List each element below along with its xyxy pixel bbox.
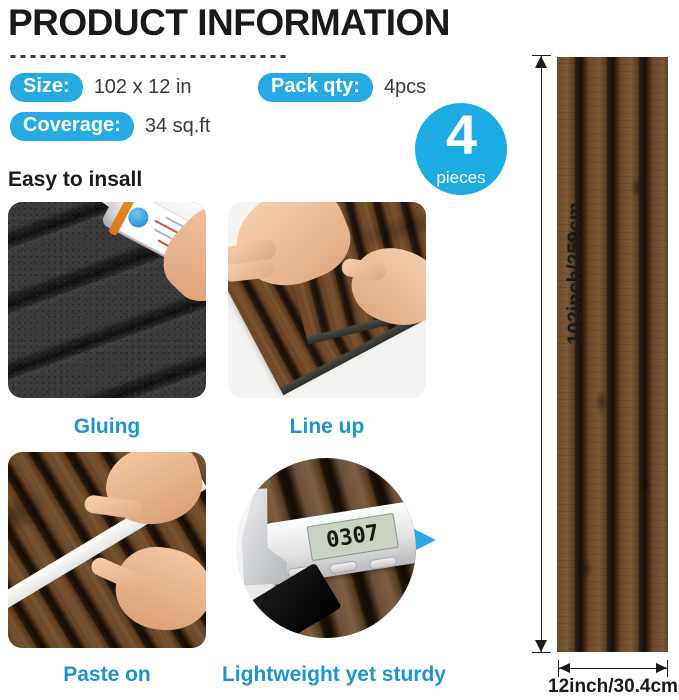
measurement-circle-photo: 0307 xyxy=(236,458,416,638)
spec-row-coverage: Coverage: 34 sq.ft xyxy=(10,112,210,141)
spec-label-coverage: Coverage: xyxy=(10,112,134,141)
dimension-cap-bottom xyxy=(532,652,551,653)
step-photo-measurement: 0307 xyxy=(236,458,432,654)
install-section-heading: Easy to insall xyxy=(8,168,142,192)
step-caption-measurement: Lightweight yet sturdy xyxy=(214,663,454,687)
pieces-badge-number: 4 xyxy=(415,107,507,163)
spec-label-size: Size: xyxy=(10,73,83,102)
dotted-divider xyxy=(8,55,286,58)
step-photo-gluing xyxy=(8,202,206,398)
spec-label-pack-qty: Pack qty: xyxy=(258,73,373,102)
step-caption-paste-on: Paste on xyxy=(8,663,206,687)
spec-value-pack-qty: 4pcs xyxy=(384,76,426,99)
dimension-line xyxy=(541,55,542,653)
spec-value-size: 102 x 12 in xyxy=(94,76,192,99)
spec-row-size: Size: 102 x 12 in xyxy=(10,73,192,102)
width-dimension-line xyxy=(558,668,668,669)
dimension-line xyxy=(558,668,668,669)
height-dimension-label: 102inch/259cm xyxy=(565,202,588,344)
infographic-root: PRODUCT INFORMATION Size: 102 x 12 in Co… xyxy=(0,0,679,700)
dimension-arrow-up xyxy=(535,56,547,68)
height-dimension-line xyxy=(541,55,542,653)
caliper-lcd-display: 0307 xyxy=(307,513,399,561)
step-caption-gluing: Gluing xyxy=(8,415,206,439)
dimension-arrow-right xyxy=(656,663,667,673)
pieces-badge-word: pieces xyxy=(415,169,507,186)
page-title: PRODUCT INFORMATION xyxy=(8,2,450,44)
step-caption-line-up: Line up xyxy=(228,415,426,439)
pieces-badge: 4 pieces xyxy=(415,103,507,195)
width-dimension-label: 12inch/30.4cm xyxy=(531,676,679,698)
step-photo-line-up xyxy=(228,202,426,398)
product-board-image xyxy=(557,57,668,652)
dimension-cap-right xyxy=(667,660,668,677)
caliper-reading: 0307 xyxy=(325,522,381,552)
spec-row-pack-qty: Pack qty: 4pcs xyxy=(258,73,426,102)
dimension-arrow-down xyxy=(535,640,547,652)
step-photo-paste-on xyxy=(8,452,206,648)
wood-grain-texture xyxy=(557,57,668,652)
dimension-arrow-left xyxy=(559,663,570,673)
spec-value-coverage: 34 sq.ft xyxy=(145,115,211,138)
